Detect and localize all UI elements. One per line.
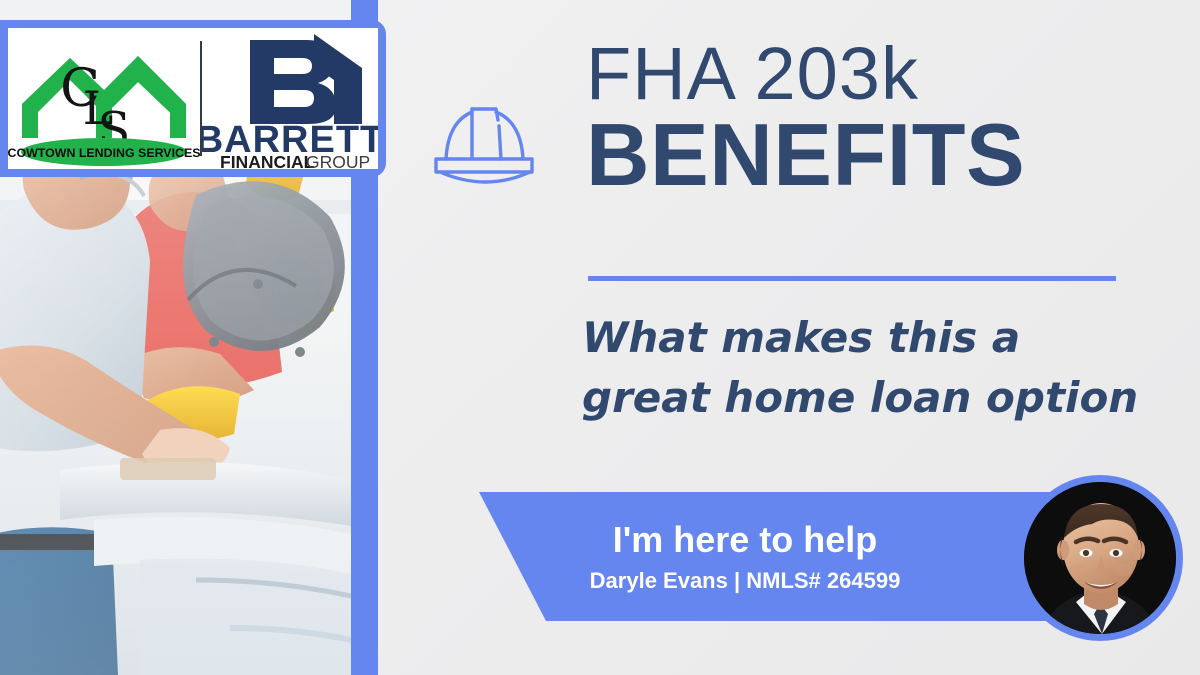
barrett-financial-text: FINANCIAL <box>220 152 315 169</box>
cta-title: I'm here to help <box>613 519 878 561</box>
marketing-graphic: DEWALT <box>0 0 1200 675</box>
cowtown-lending-logo: C L S COWTOWN LENDING SERVICES <box>8 28 200 169</box>
cta-subtitle: Daryle Evans | NMLS# 264599 <box>590 568 901 594</box>
subheadline-group: What makes this a great home loan option <box>582 308 1142 427</box>
logo-lockup: C L S COWTOWN LENDING SERVICES BARRETT F… <box>0 20 386 177</box>
barrett-group-text: GROUP <box>306 152 370 169</box>
cta-text-group: I'm here to help Daryle Evans | NMLS# 26… <box>510 492 980 621</box>
headline-divider <box>588 276 1116 281</box>
headline-line-2: BENEFITS <box>586 111 1126 199</box>
subheadline-line-1: What makes this a <box>582 308 1142 368</box>
headline-line-1: FHA 203k <box>586 38 1126 109</box>
headline-group: FHA 203k BENEFITS <box>586 38 1126 199</box>
hard-hat-icon <box>428 96 548 196</box>
cowtown-logo-text: COWTOWN LENDING SERVICES <box>8 146 200 160</box>
subheadline-line-2: great home loan option <box>582 368 1142 428</box>
barrett-financial-logo: BARRETT FINANCIAL GROUP <box>202 28 378 169</box>
avatar <box>1017 475 1183 641</box>
